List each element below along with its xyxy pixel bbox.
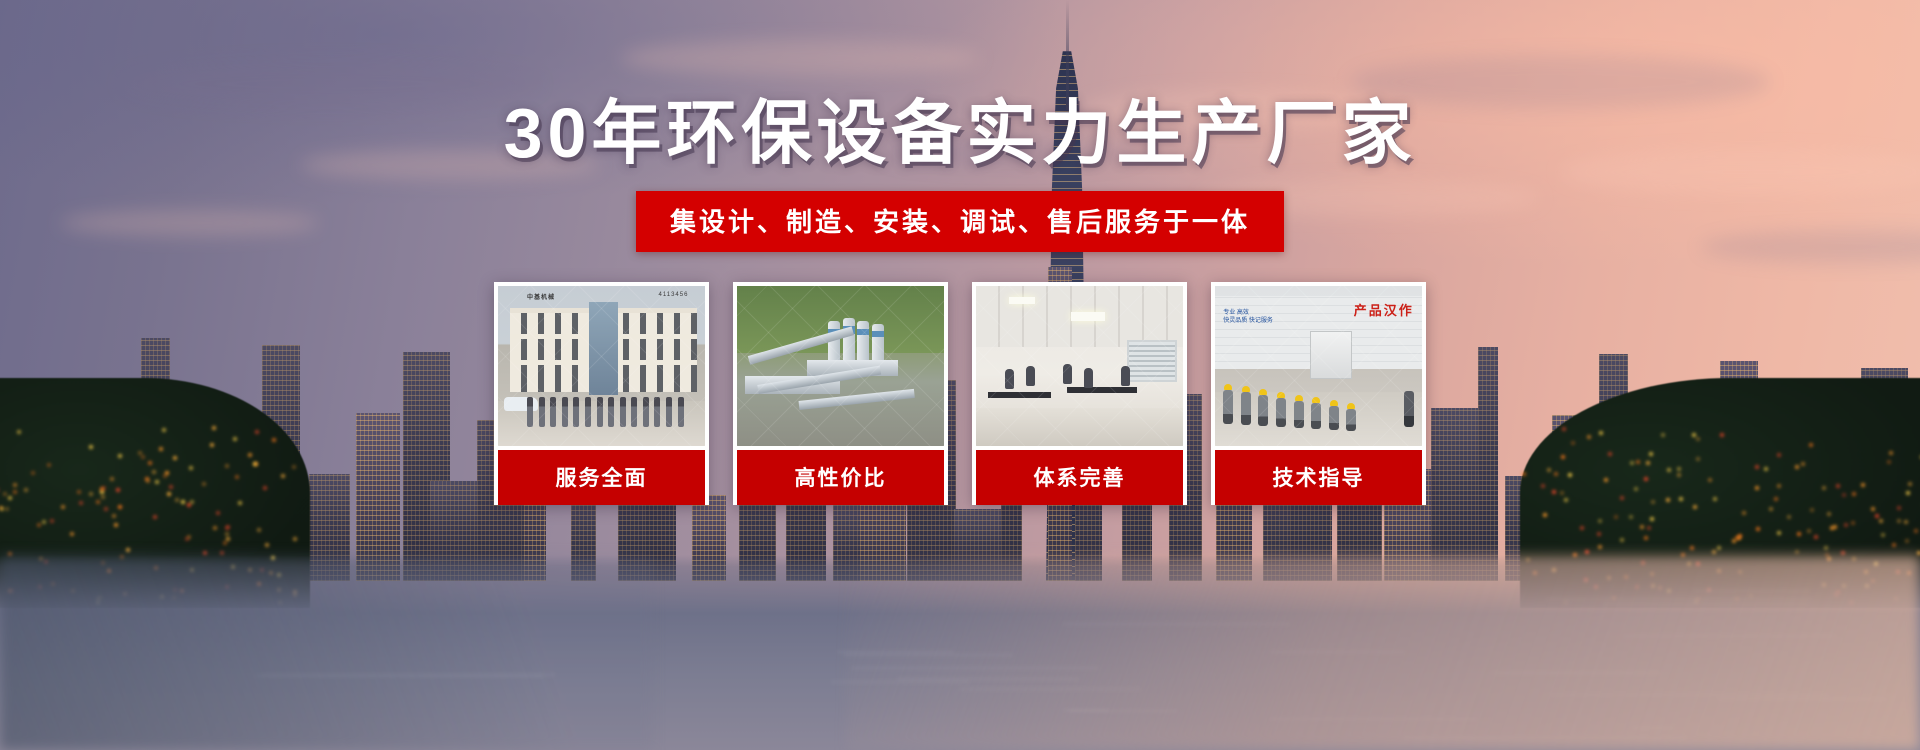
factory-slogan-text: 产品汉作 — [1354, 300, 1414, 319]
car-icon — [504, 397, 538, 411]
office-worker — [1005, 369, 1014, 389]
factory-worker — [1311, 403, 1321, 429]
factory-supervisor — [1404, 391, 1414, 427]
staff-person — [643, 397, 649, 427]
office-desk — [1067, 387, 1137, 393]
helmet-icon — [1295, 395, 1303, 401]
helmet-icon — [1224, 384, 1232, 390]
staff-person — [597, 397, 603, 427]
factory-worker — [1329, 406, 1339, 430]
staff-person — [620, 397, 626, 427]
card-photo-office-interior — [976, 286, 1183, 446]
page-title: 30年环保设备实力生产厂家 — [0, 98, 1920, 168]
card-caption: 高性价比 — [737, 450, 944, 505]
building-entrance — [589, 302, 618, 395]
ceiling-light-icon — [1009, 297, 1035, 304]
factory-wall-text: 专业 高效快灵品质 快记服务 — [1223, 310, 1273, 326]
card-photo-aerial-plant — [737, 286, 944, 446]
silo-icon — [872, 324, 884, 362]
office-window — [1127, 340, 1177, 382]
hero-banner: 30年环保设备实力生产厂家 集设计、制造、安装、调试、售后服务于一体 中基机械 … — [0, 0, 1920, 750]
factory-worker — [1241, 392, 1251, 424]
factory-worker — [1294, 401, 1304, 429]
staff-person — [678, 397, 684, 427]
silo-icon — [828, 321, 840, 363]
factory-worker — [1258, 395, 1268, 426]
staff-person — [550, 397, 556, 427]
factory-worker — [1276, 398, 1286, 427]
card-caption: 服务全面 — [498, 450, 705, 505]
staff-person — [654, 397, 660, 427]
banner-content: 30年环保设备实力生产厂家 集设计、制造、安装、调试、售后服务于一体 中基机械 … — [0, 0, 1920, 750]
factory-worker — [1223, 390, 1233, 424]
building-sign-text: 中基机械 — [527, 292, 555, 301]
subtitle-badge: 集设计、制造、安装、调试、售后服务于一体 — [636, 191, 1284, 252]
office-worker — [1121, 366, 1130, 386]
helmet-icon — [1277, 392, 1285, 398]
card-caption: 体系完善 — [976, 450, 1183, 505]
feature-card[interactable]: 中基机械 4113456 服务全面 — [494, 282, 709, 505]
staff-person — [608, 397, 614, 427]
staff-person — [539, 397, 545, 427]
factory-door — [1310, 331, 1351, 379]
staff-person — [527, 397, 533, 427]
staff-person — [666, 397, 672, 427]
office-worker — [1084, 368, 1093, 388]
staff-person — [631, 397, 637, 427]
feature-card[interactable]: 体系完善 — [972, 282, 1187, 505]
feature-card[interactable]: 高性价比 — [733, 282, 948, 505]
staff-person — [585, 397, 591, 427]
green-field — [737, 286, 944, 353]
helmet-icon — [1259, 389, 1267, 395]
office-worker — [1026, 366, 1035, 386]
factory-worker — [1346, 409, 1356, 432]
office-worker — [1063, 364, 1072, 384]
building-phone-text: 4113456 — [659, 292, 689, 298]
ceiling-light-icon — [1071, 312, 1105, 321]
helmet-icon — [1312, 397, 1320, 403]
feature-card[interactable]: 产品汉作 专业 高效快灵品质 快记服务 技术指导 — [1211, 282, 1426, 505]
card-photo-office-building: 中基机械 4113456 — [498, 286, 705, 446]
subtitle-container: 集设计、制造、安装、调试、售后服务于一体 — [0, 191, 1920, 252]
office-floor — [976, 408, 1183, 446]
office-desk — [988, 392, 1050, 398]
silo-icon — [857, 321, 869, 363]
staff-person — [573, 397, 579, 427]
helmet-icon — [1242, 386, 1250, 392]
card-photo-factory-yard: 产品汉作 专业 高效快灵品质 快记服务 — [1215, 286, 1422, 446]
feature-card-list: 中基机械 4113456 服务全面 — [0, 282, 1920, 505]
silo-icon — [843, 318, 855, 364]
card-caption: 技术指导 — [1215, 450, 1422, 505]
helmet-icon — [1330, 400, 1338, 406]
staff-person — [562, 397, 568, 427]
